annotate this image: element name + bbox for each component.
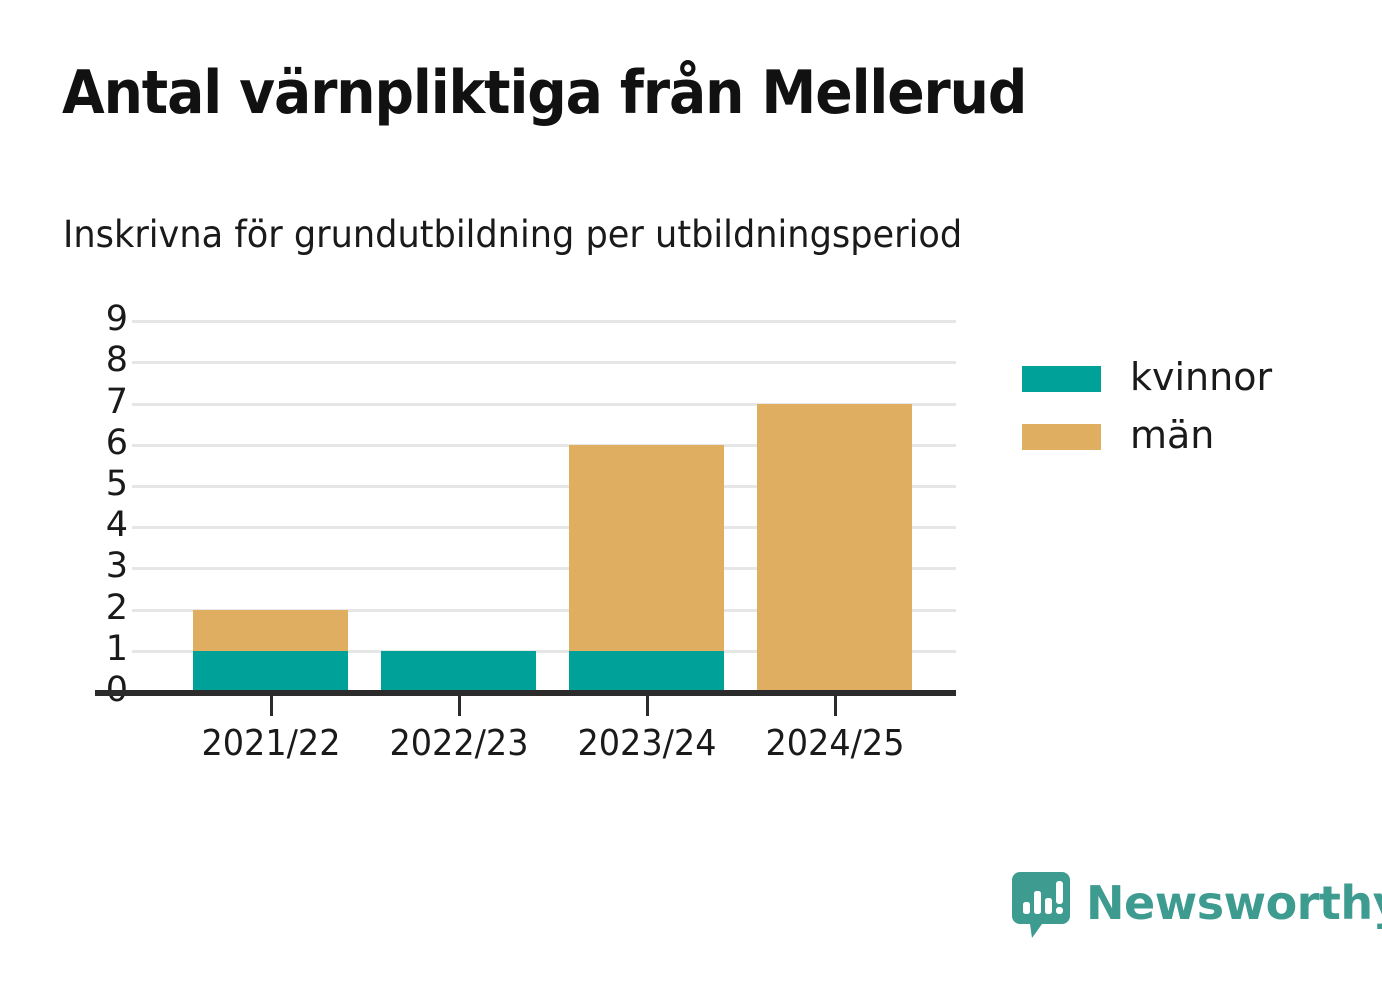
x-axis-tick-mark [270,696,273,716]
legend-swatch-man [1022,424,1101,450]
y-axis-tick-label: 9 [88,302,128,337]
y-axis-tick-label: 6 [88,426,128,461]
x-axis-tick-mark [646,696,649,716]
y-axis-tick-label: 4 [88,508,128,543]
x-axis-tick-label: 2023/24 [554,722,740,766]
x-axis-line [95,690,956,696]
gridline-9 [132,320,956,323]
newsworthy-logo: Newsworthy [1012,872,1382,938]
bar-segment-kvinnor-2021-22[interactable] [193,651,348,692]
bar-segment-kvinnor-2023-24[interactable] [569,651,724,692]
bar-segment-män-2023-24[interactable] [569,445,724,651]
y-axis-tick-label: 8 [88,343,128,378]
bar-segment-kvinnor-2022-23[interactable] [381,651,536,692]
x-axis-tick-label: 2021/22 [178,722,364,766]
legend-label-kvinnor: kvinnor [1130,352,1272,402]
bar-chart-speech-bubble-icon [1012,872,1070,938]
y-axis-tick-label: 7 [88,385,128,420]
bar-segment-män-2024-25[interactable] [757,404,912,692]
y-axis-tick-label: 5 [88,467,128,502]
x-axis-tick-label: 2024/25 [742,722,928,766]
newsworthy-wordmark: Newsworthy [1086,880,1382,926]
y-axis-tick-label: 3 [88,549,128,584]
x-axis-tick-label: 2022/23 [366,722,552,766]
y-axis-tick-label: 1 [88,632,128,667]
gridline-8 [132,361,956,364]
legend-label-man: män [1130,410,1214,460]
legend-swatch-kvinnor [1022,366,1101,392]
y-axis-tick-label: 2 [88,591,128,626]
chart-plot-area: 0123456789 2021/222022/232023/242024/25 [0,0,1382,999]
x-axis-tick-mark [458,696,461,716]
x-axis-tick-mark [834,696,837,716]
bar-segment-män-2021-22[interactable] [193,610,348,651]
